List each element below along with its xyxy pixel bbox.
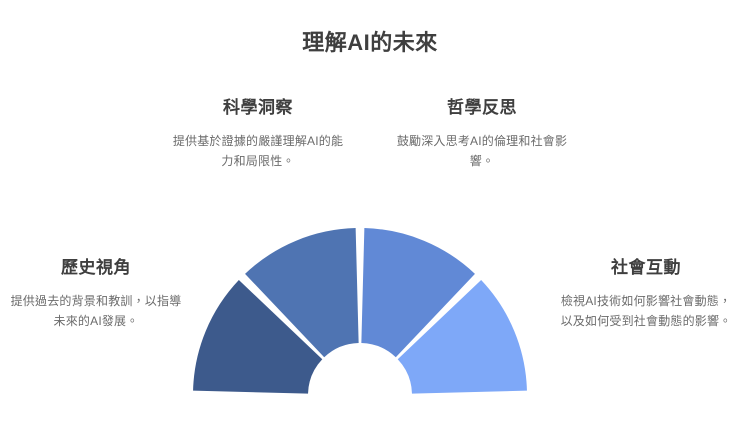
label-desc-historical-perspective: 提供過去的背景和教訓，以指導未來的AI發展。 — [6, 291, 186, 331]
half-donut-chart — [175, 218, 545, 408]
label-scientific-insight: 科學洞察 提供基於證據的嚴謹理解AI的能力和局限性。 — [168, 96, 348, 171]
label-heading-historical-perspective: 歷史視角 — [6, 256, 186, 280]
label-desc-social-interaction: 檢視AI技術如何影響社會動態，以及如何受到社會動態的影響。 — [556, 291, 736, 331]
label-historical-perspective: 歷史視角 提供過去的背景和教訓，以指導未來的AI發展。 — [6, 256, 186, 331]
label-desc-philosophical-reflection: 鼓勵深入思考AI的倫理和社會影響。 — [392, 131, 572, 171]
label-heading-philosophical-reflection: 哲學反思 — [392, 96, 572, 120]
donut-segments — [193, 228, 527, 394]
page-title: 理解AI的未來 — [0, 28, 740, 58]
label-philosophical-reflection: 哲學反思 鼓勵深入思考AI的倫理和社會影響。 — [392, 96, 572, 171]
label-social-interaction: 社會互動 檢視AI技術如何影響社會動態，以及如何受到社會動態的影響。 — [556, 256, 736, 331]
infographic-canvas: 理解AI的未來 科學洞察 提供基於證據的嚴謹理解AI的能力和局限性。 哲學反思 … — [0, 0, 740, 440]
label-heading-social-interaction: 社會互動 — [556, 256, 736, 280]
label-desc-scientific-insight: 提供基於證據的嚴謹理解AI的能力和局限性。 — [168, 131, 348, 171]
half-donut-svg — [175, 218, 545, 408]
label-heading-scientific-insight: 科學洞察 — [168, 96, 348, 120]
